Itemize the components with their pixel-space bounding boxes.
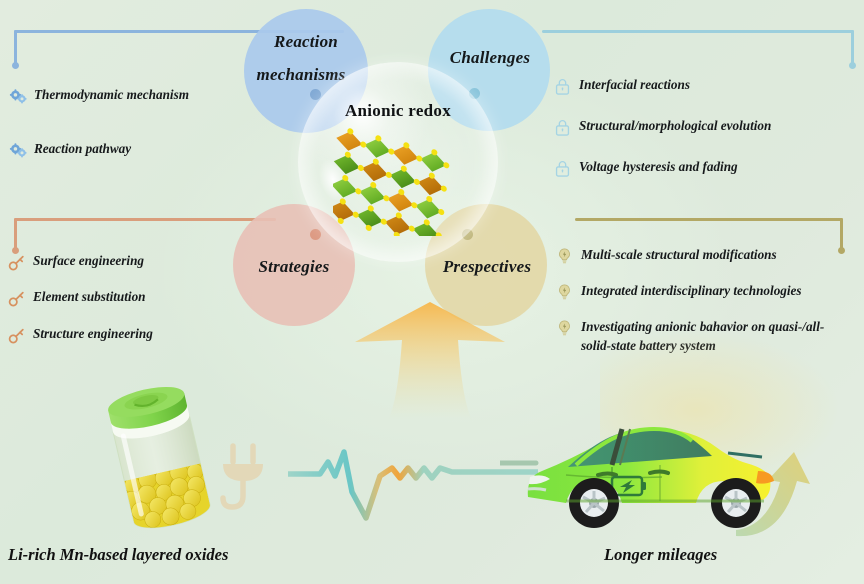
list-item: Surface engineering (7, 252, 144, 272)
bracket-end-dot (12, 62, 19, 69)
circle-label-strategies: Strategies (234, 257, 354, 277)
padlock-icon (553, 118, 572, 137)
dot-strategies (310, 229, 321, 240)
bracket-horizontal (542, 30, 854, 33)
bracket-vertical (840, 218, 843, 250)
bracket-horizontal (14, 218, 276, 221)
list-item-label: Voltage hysteresis and fading (579, 158, 738, 177)
bracket-vertical (14, 30, 17, 65)
gears-icon (8, 141, 27, 160)
lightbulb-icon (555, 319, 574, 338)
list-item-label: Reaction pathway (34, 140, 131, 159)
list-item-label: Structure engineering (33, 325, 153, 344)
gears-icon (8, 87, 27, 106)
lightbulb-icon (555, 247, 574, 266)
list-item-label: Integrated interdisciplinary technologie… (581, 282, 802, 301)
bracket-challenges (542, 30, 854, 78)
list-item-label: Multi-scale structural modifications (581, 246, 777, 265)
list-item-label: Element substitution (33, 288, 146, 307)
list-item: Thermodynamic mechanism (8, 86, 189, 106)
bracket-end-dot (838, 247, 845, 254)
key-icon (7, 253, 26, 272)
key-icon (7, 326, 26, 345)
bracket-vertical (851, 30, 854, 65)
list-item: Structure engineering (7, 325, 153, 345)
list-item-label: Structural/morphological evolution (579, 117, 771, 136)
lightbulb-icon (555, 283, 574, 302)
bracket-end-dot (849, 62, 856, 69)
padlock-icon (553, 159, 572, 178)
list-item: Element substitution (7, 288, 146, 308)
circle-label-reaction-mechanisms-line1: Reaction (250, 32, 362, 52)
circle-label-prespectives: Prespectives (426, 257, 548, 277)
list-item: Voltage hysteresis and fading (553, 158, 738, 178)
circle-label-challenges: Challenges (430, 48, 550, 68)
padlock-icon (553, 77, 572, 96)
caption-left: Li-rich Mn-based layered oxides (8, 545, 228, 565)
electric-car-icon (500, 405, 830, 550)
list-item-label: Thermodynamic mechanism (34, 86, 189, 105)
list-item: Interfacial reactions (553, 76, 690, 96)
list-item: Multi-scale structural modifications (555, 246, 777, 266)
up-arrow-icon (330, 300, 530, 420)
center-bubble-label: Anionic redox (298, 101, 498, 121)
list-item: Reaction pathway (8, 140, 131, 160)
list-item: Structural/morphological evolution (553, 117, 771, 137)
list-item: Integrated interdisciplinary technologie… (555, 282, 802, 302)
list-item-label: Interfacial reactions (579, 76, 690, 95)
key-icon (7, 289, 26, 308)
crystal-lattice-icon (333, 118, 463, 236)
bracket-horizontal (575, 218, 843, 221)
figure-canvas: Reaction mechanisms Challenges Strategie… (0, 0, 864, 584)
list-item-label: Surface engineering (33, 252, 144, 271)
bracket-vertical (14, 218, 17, 250)
power-plug-icon (215, 440, 285, 515)
